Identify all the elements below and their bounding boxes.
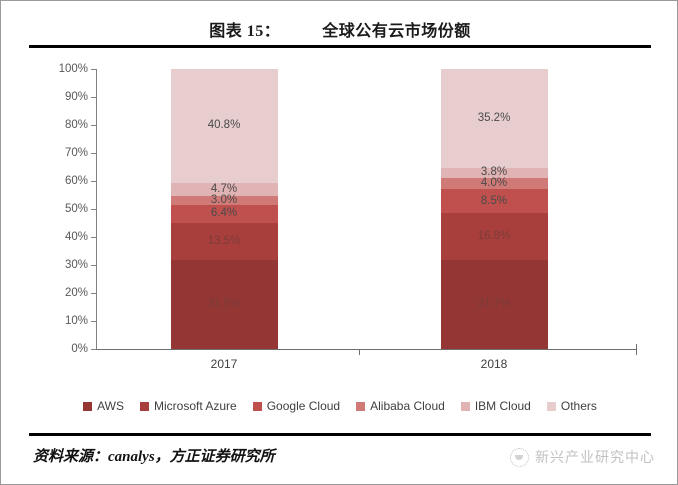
source-note: 资料来源：canalys，方正证券研究所 — [33, 445, 275, 466]
x-axis-tick-label: 2018 — [481, 357, 508, 371]
cloud-circle-icon — [510, 448, 529, 467]
figure-number-label: 图表 15： — [209, 17, 280, 41]
bar-segment-value: 35.2% — [478, 113, 511, 125]
bar-segment-value: 6.4% — [211, 208, 237, 220]
stacked-bar-chart: 100%90%80%70%60%50%40%30%20%10%0% 40.8%4… — [1, 53, 678, 383]
bar-segment[interactable]: 31.7% — [441, 260, 548, 349]
bar-segment[interactable]: 13.5% — [171, 223, 278, 261]
y-axis-tick-label: 70% — [65, 147, 88, 159]
bar-2018[interactable]: 35.2%3.8%4.0%8.5%16.8%31.7% — [441, 69, 548, 349]
bar-segment-value: 13.5% — [208, 236, 241, 248]
bar-segment[interactable]: 35.2% — [441, 69, 548, 168]
watermark: 新兴产业研究中心 — [510, 447, 655, 467]
bar-segment[interactable]: 16.8% — [441, 213, 548, 260]
legend-swatch — [253, 402, 262, 411]
bar-segment-value: 8.5% — [481, 196, 507, 208]
legend-swatch — [83, 402, 92, 411]
y-axis-tick-label: 10% — [65, 315, 88, 327]
legend-swatch — [547, 402, 556, 411]
legend-label: Microsoft Azure — [154, 399, 237, 413]
x-axis-tick — [359, 349, 360, 355]
x-axis-tick-label: 2017 — [211, 357, 238, 371]
legend-label: IBM Cloud — [475, 399, 531, 413]
y-axis-tick-label: 80% — [65, 119, 88, 131]
page-title: 全球公有云市场份额 — [322, 17, 471, 41]
legend-item-microsoft-azure[interactable]: Microsoft Azure — [140, 399, 237, 413]
bar-segment[interactable]: 40.8% — [171, 69, 278, 183]
y-axis-tick-label: 90% — [65, 91, 88, 103]
figure-title-row: 图表 15： 全球公有云市场份额 — [1, 15, 678, 43]
bar-segment[interactable]: 6.4% — [171, 205, 278, 223]
bar-segment[interactable]: 4.0% — [441, 178, 548, 189]
legend-label: AWS — [97, 399, 124, 413]
legend-swatch — [356, 402, 365, 411]
legend-item-ibm-cloud[interactable]: IBM Cloud — [461, 399, 531, 413]
legend-swatch — [461, 402, 470, 411]
y-axis-tick-label: 60% — [65, 175, 88, 187]
bar-segment-value: 40.8% — [208, 120, 241, 132]
y-axis-tick-label: 20% — [65, 287, 88, 299]
chart-legend: AWSMicrosoft AzureGoogle CloudAlibaba Cl… — [1, 395, 678, 417]
y-axis-tick-label: 40% — [65, 231, 88, 243]
legend-label: Alibaba Cloud — [370, 399, 445, 413]
figure-panel: 图表 15： 全球公有云市场份额 100%90%80%70%60%50%40%3… — [0, 0, 678, 485]
watermark-label: 新兴产业研究中心 — [535, 447, 655, 467]
legend-label: Google Cloud — [267, 399, 340, 413]
legend-item-aws[interactable]: AWS — [83, 399, 124, 413]
bar-2017[interactable]: 40.8%4.7%3.0%6.4%13.5%31.5% — [171, 69, 278, 349]
bar-segment[interactable]: 8.5% — [441, 189, 548, 213]
y-axis-tick-label: 30% — [65, 259, 88, 271]
bar-segment[interactable]: 31.5% — [171, 260, 278, 348]
plot-area: 40.8%4.7%3.0%6.4%13.5%31.5%35.2%3.8%4.0%… — [96, 69, 636, 349]
bar-segment[interactable]: 3.0% — [171, 196, 278, 204]
y-axis-tick-label: 0% — [71, 343, 88, 355]
x-axis-line — [96, 349, 636, 350]
bar-segment-value: 4.0% — [481, 178, 507, 190]
y-axis-tick-label: 100% — [59, 63, 88, 75]
bar-segment-value: 31.7% — [478, 299, 511, 311]
bar-segment-value: 31.5% — [208, 299, 241, 311]
legend-label: Others — [561, 399, 597, 413]
footer-divider — [29, 433, 651, 436]
legend-swatch — [140, 402, 149, 411]
y-axis: 100%90%80%70%60%50%40%30%20%10%0% — [1, 69, 96, 350]
legend-item-google-cloud[interactable]: Google Cloud — [253, 399, 340, 413]
y-axis-tick-label: 50% — [65, 203, 88, 215]
title-divider — [29, 45, 651, 48]
x-axis-end-tick — [636, 349, 637, 355]
bar-segment-value: 16.8% — [478, 231, 511, 243]
legend-item-others[interactable]: Others — [547, 399, 597, 413]
legend-item-alibaba-cloud[interactable]: Alibaba Cloud — [356, 399, 445, 413]
